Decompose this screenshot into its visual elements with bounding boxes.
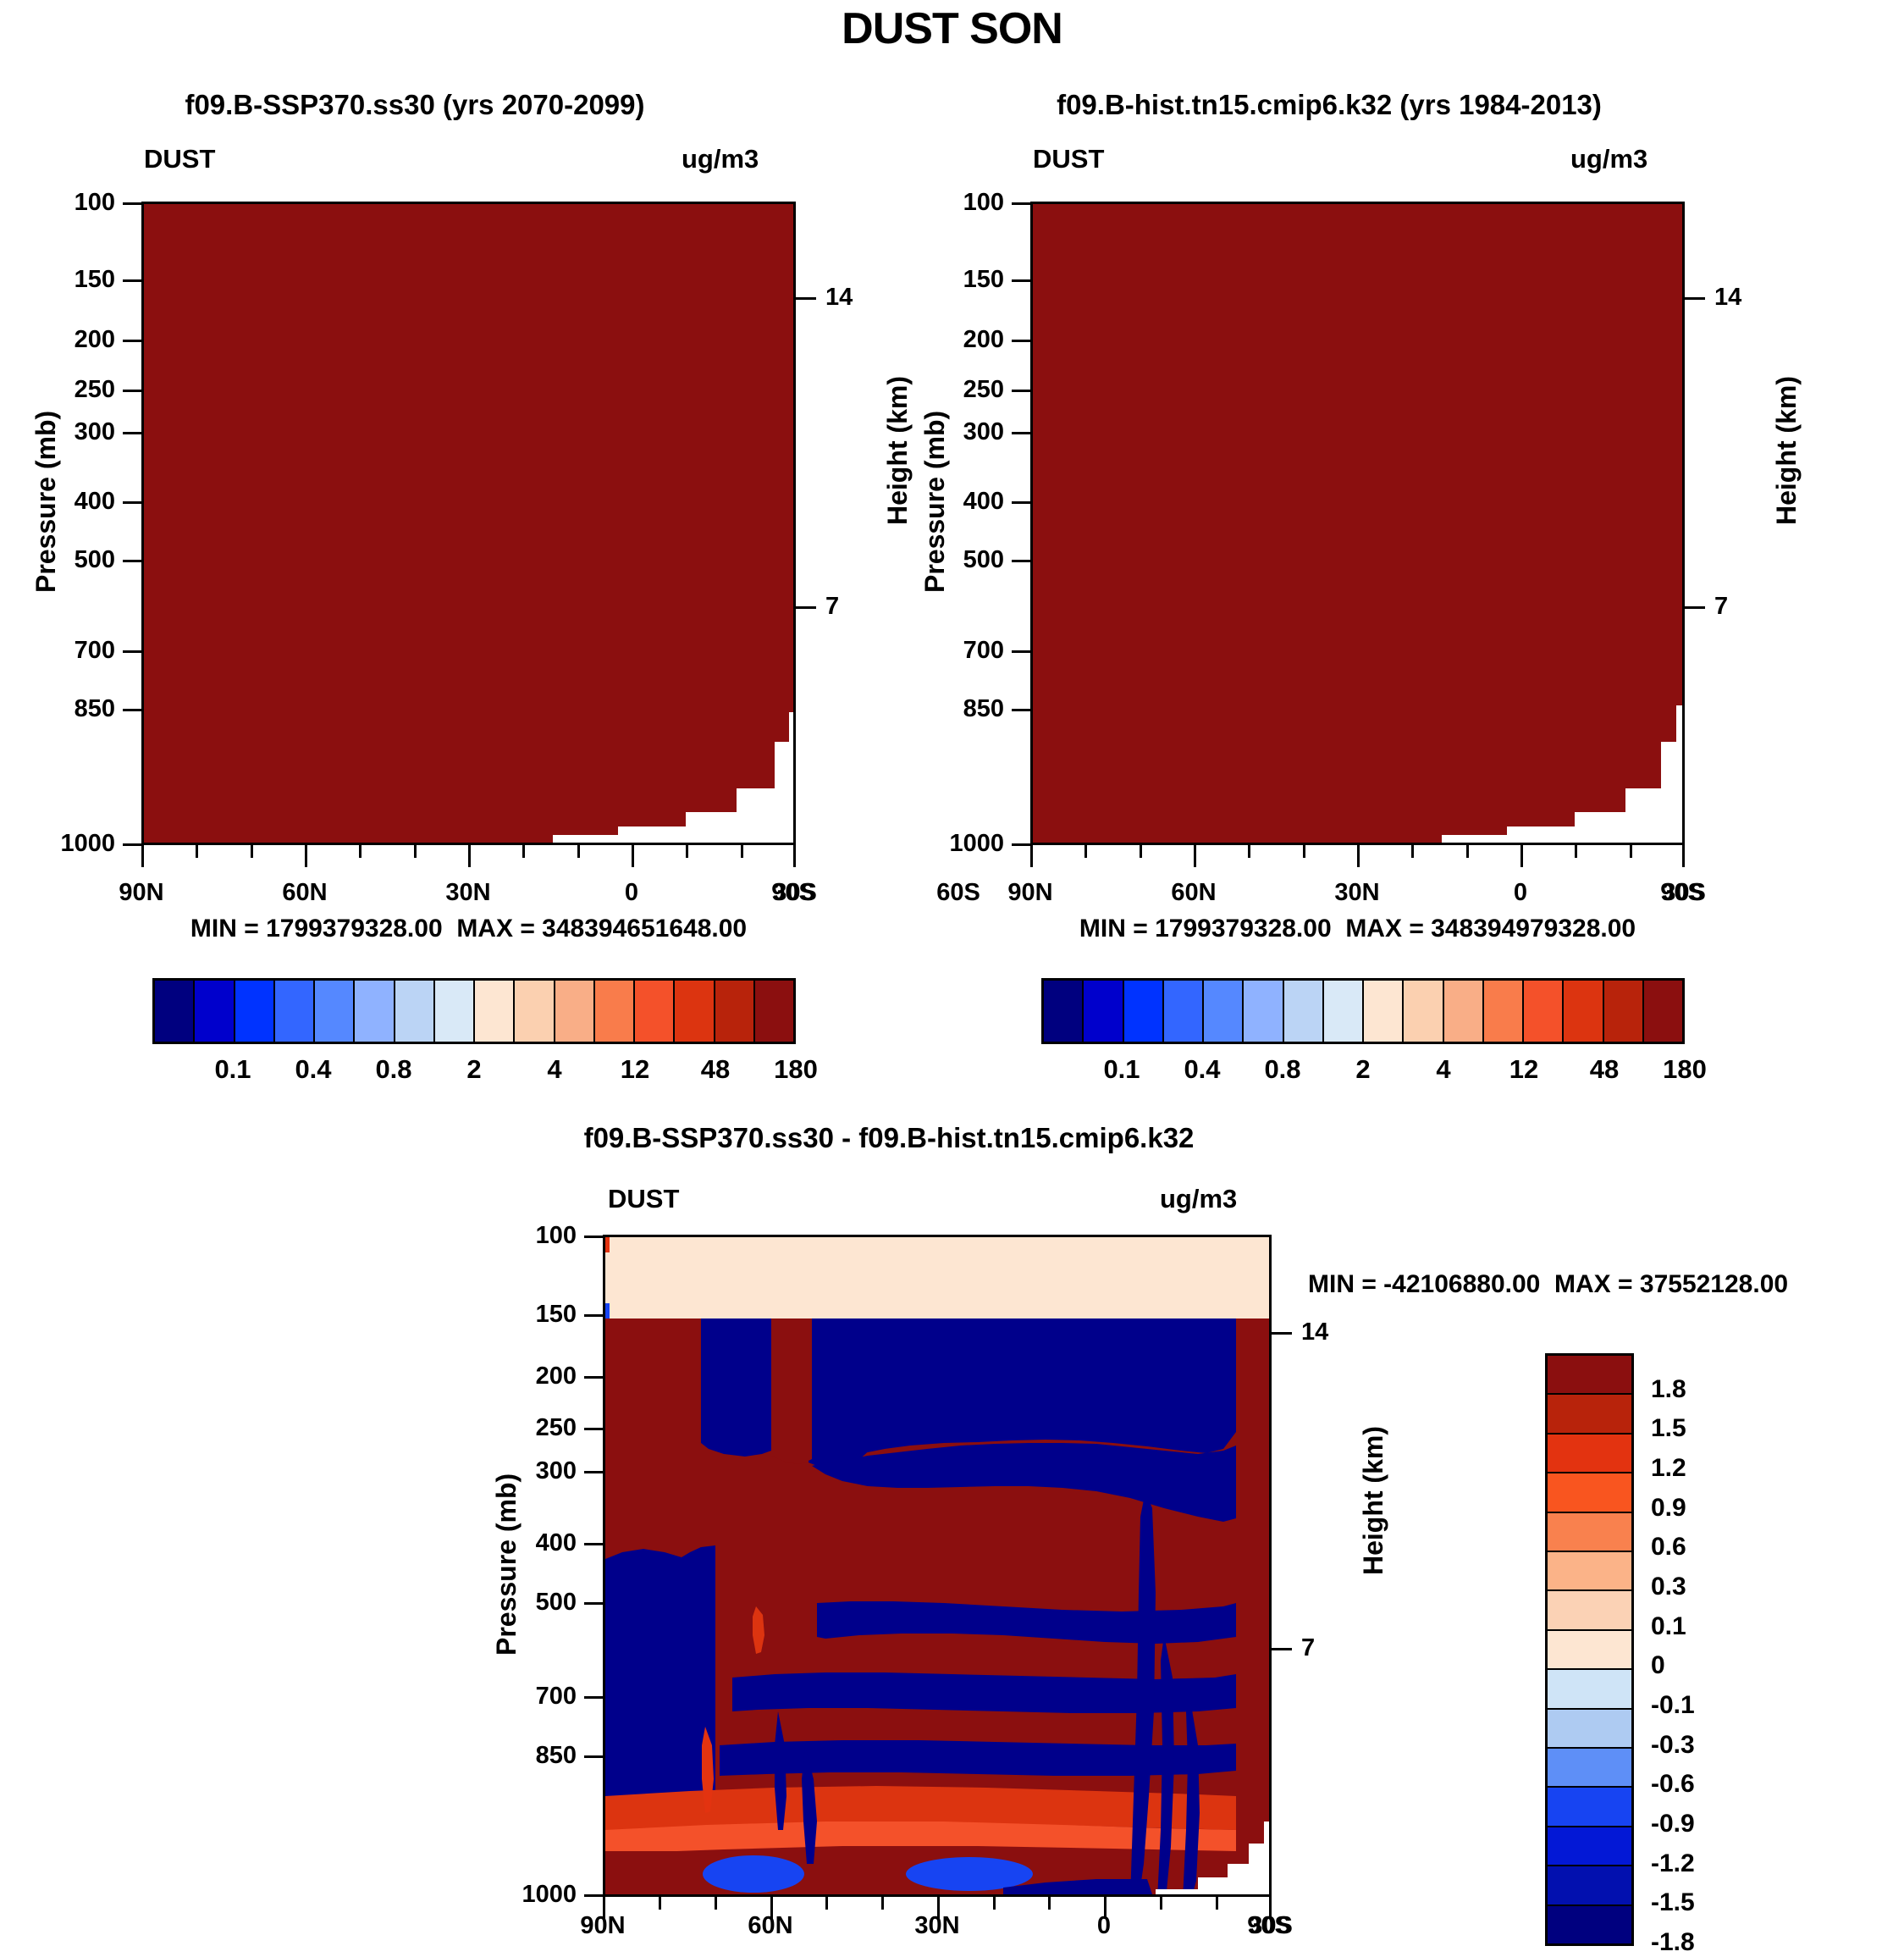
colorbar-cell	[715, 981, 755, 1042]
colorbar-difference-labels: 1.81.51.20.90.60.30.10-0.1-0.3-0.6-0.9-1…	[1651, 1353, 1778, 1946]
colorbar-cell	[635, 981, 675, 1042]
panel-title-bottom-diff: f09.B-SSP370.ss30 - f09.B-hist.tn15.cmip…	[423, 1122, 1355, 1154]
colorbar-cell	[755, 981, 793, 1042]
colorbar-cell	[1548, 1670, 1631, 1709]
colorbar-cell	[1244, 981, 1283, 1042]
colorbar-cell	[675, 981, 715, 1042]
pressure-tick-label: 500	[514, 1589, 577, 1617]
page-title: DUST SON	[0, 3, 1904, 54]
colorbar-cell	[1548, 1395, 1631, 1434]
colorbar-labels-top-right: 0.10.40.8241248180	[1041, 1054, 1685, 1092]
pressure-tick-label: 400	[514, 1529, 577, 1557]
pressure-tick-label: 150	[52, 266, 115, 294]
colorbar-tick-label: -0.1	[1651, 1691, 1695, 1720]
pressure-tick-label: 400	[52, 488, 115, 516]
pressure-tick-label: 1000	[923, 830, 1004, 858]
colorbar-cell	[1564, 981, 1603, 1042]
pressure-tick-label: 300	[514, 1457, 577, 1485]
colorbar-cell	[195, 981, 235, 1042]
colorbar-tick-label: -1.8	[1651, 1928, 1695, 1957]
colorbar-cell	[1548, 1513, 1631, 1552]
pressure-tick-label: 250	[514, 1414, 577, 1442]
unit-label-top-right: ug/m3	[1570, 144, 1647, 174]
pressure-tick-label: 500	[52, 546, 115, 574]
latitude-tick-label: 0	[1057, 1912, 1151, 1940]
colorbar-cell	[1548, 1788, 1631, 1827]
colorbar-cell	[475, 981, 515, 1042]
colorbar-cell	[1044, 981, 1084, 1042]
colorbar-cell	[1164, 981, 1204, 1042]
height-tick-label: 7	[1301, 1634, 1315, 1662]
max-value-top-right: MAX = 348394979328.00	[1345, 915, 1636, 943]
colorbar-cell	[1548, 1866, 1631, 1905]
pressure-tick-label: 100	[52, 189, 115, 217]
pressure-tick-label: 250	[52, 376, 115, 404]
pressure-tick-label: 700	[941, 637, 1004, 665]
latitude-tick-label: 90N	[984, 879, 1077, 907]
minmax-bottom-diff: MIN = -42106880.00 MAX = 37552128.00	[1308, 1270, 1788, 1299]
colorbar-top-right[interactable]	[1041, 978, 1685, 1044]
unit-label-top-left: ug/m3	[682, 144, 759, 174]
colorbar-tick-label: 0	[1651, 1651, 1665, 1680]
colorbar-tick-label: 0.3	[1651, 1573, 1686, 1601]
latitude-tick-label: 30N	[891, 1912, 984, 1940]
colorbar-cell	[555, 981, 595, 1042]
colorbar-cell	[1284, 981, 1324, 1042]
colorbar-tick-label: 0.9	[1651, 1494, 1686, 1523]
latitude-tick-label: 90N	[95, 879, 188, 907]
height-tick-label: 14	[1301, 1318, 1328, 1346]
latitude-tick-label-90s: 90S	[1636, 879, 1729, 907]
pressure-tick-label: 1000	[495, 1881, 577, 1909]
colorbar-cell	[1548, 1591, 1631, 1630]
difference-contour-field	[605, 1237, 1272, 1897]
colorbar-tick-label: 0.6	[1651, 1533, 1686, 1562]
min-value-top-right: MIN = 1799379328.00	[1079, 915, 1332, 943]
pressure-tick-label: 100	[514, 1222, 577, 1250]
variable-label-top-left: DUST	[144, 144, 215, 174]
colorbar-cell	[435, 981, 475, 1042]
y-axis-title-top-right: Pressure (mb)	[919, 411, 951, 593]
variable-label-bottom-diff: DUST	[608, 1184, 679, 1214]
min-value-top-left: MIN = 1799379328.00	[190, 915, 443, 943]
colorbar-cell	[1548, 1356, 1631, 1395]
pressure-tick-label: 850	[52, 695, 115, 723]
max-value-bottom-diff: MAX = 37552128.00	[1554, 1270, 1788, 1298]
latitude-tick-label: 30N	[1311, 879, 1404, 907]
colorbar-cell	[1364, 981, 1404, 1042]
pressure-tick-label: 700	[52, 637, 115, 665]
pressure-tick-label: 250	[941, 376, 1004, 404]
pressure-tick-label: 850	[941, 695, 1004, 723]
pressure-tick-label: 200	[941, 326, 1004, 354]
colorbar-cell	[1548, 1906, 1631, 1943]
colorbar-cell	[315, 981, 355, 1042]
colorbar-tick-label: 1.2	[1651, 1454, 1686, 1483]
latitude-tick-label-90s: 90S	[747, 879, 840, 907]
colorbar-cell	[1548, 1473, 1631, 1512]
plot-area-top-left	[141, 202, 796, 845]
colorbar-tick-label: 0.1	[1651, 1612, 1686, 1641]
latitude-tick-label-90s: 90S	[1222, 1912, 1316, 1940]
colorbar-cell	[1204, 981, 1244, 1042]
latitude-tick-label: 0	[1474, 879, 1567, 907]
pressure-tick-label: 200	[52, 326, 115, 354]
unit-label-bottom-diff: ug/m3	[1160, 1184, 1237, 1214]
colorbar-cell	[1484, 981, 1524, 1042]
height-tick-label: 14	[825, 284, 853, 312]
colorbar-tick-label: -1.2	[1651, 1849, 1695, 1878]
colorbar-tick-label: -0.6	[1651, 1770, 1695, 1799]
latitude-tick-label: 30N	[422, 879, 515, 907]
colorbar-cell	[1548, 1435, 1631, 1473]
y2-axis-title-bottom-diff: Height (km)	[1358, 1426, 1389, 1575]
panel-title-top-left: f09.B-SSP370.ss30 (yrs 2070-2099)	[34, 89, 796, 121]
colorbar-tick-label: 180	[1634, 1054, 1736, 1085]
colorbar-cell	[395, 981, 435, 1042]
colorbar-cell	[1548, 1552, 1631, 1591]
panel-title-top-right: f09.B-hist.tn15.cmip6.k32 (yrs 1984-2013…	[923, 89, 1736, 121]
colorbar-cell	[595, 981, 635, 1042]
colorbar-cell	[1548, 1749, 1631, 1788]
minmax-top-left: MIN = 1799379328.00 MAX = 348394651648.0…	[141, 915, 796, 943]
y2-axis-title-top-right: Height (km)	[1771, 376, 1802, 525]
surface-mask-top-left	[144, 204, 796, 845]
colorbar-cell	[1084, 981, 1123, 1042]
colorbar-cell	[235, 981, 275, 1042]
colorbar-cell	[1548, 1631, 1631, 1670]
colorbar-labels-top-left: 0.10.40.8241248180	[152, 1054, 796, 1092]
surface-mask-top-right	[1033, 204, 1685, 845]
colorbar-cell	[155, 981, 195, 1042]
latitude-tick-label: 60N	[724, 1912, 817, 1940]
pressure-tick-label: 300	[941, 418, 1004, 446]
colorbar-cell	[355, 981, 395, 1042]
y-axis-title-bottom-diff: Pressure (mb)	[491, 1473, 522, 1656]
latitude-tick-label: 60N	[258, 879, 351, 907]
colorbar-tick-label: -1.5	[1651, 1888, 1695, 1917]
colorbar-cell	[1124, 981, 1164, 1042]
colorbar-cell	[1524, 981, 1564, 1042]
colorbar-tick-label: 1.8	[1651, 1375, 1686, 1404]
pressure-tick-label: 150	[514, 1301, 577, 1329]
colorbar-tick-label: -0.9	[1651, 1810, 1695, 1838]
latitude-tick-label: 0	[585, 879, 678, 907]
height-tick-label: 7	[1714, 593, 1728, 621]
plot-area-bottom-diff	[603, 1235, 1272, 1897]
colorbar-cell	[1548, 1827, 1631, 1866]
colorbar-cell	[1324, 981, 1364, 1042]
colorbar-top-left[interactable]	[152, 978, 796, 1044]
min-value-bottom-diff: MIN = -42106880.00	[1308, 1270, 1540, 1298]
max-value-top-left: MAX = 348394651648.00	[456, 915, 747, 943]
plot-area-top-right	[1030, 202, 1685, 845]
pressure-tick-label: 100	[941, 189, 1004, 217]
pressure-tick-label: 1000	[34, 830, 115, 858]
y2-axis-title-top-left: Height (km)	[882, 376, 913, 525]
pressure-tick-label: 200	[514, 1363, 577, 1390]
colorbar-difference[interactable]	[1545, 1353, 1634, 1946]
colorbar-tick-label: -0.3	[1651, 1731, 1695, 1760]
colorbar-cell	[1604, 981, 1644, 1042]
colorbar-cell	[1548, 1710, 1631, 1749]
pressure-tick-label: 850	[514, 1742, 577, 1770]
latitude-tick-label: 90N	[556, 1912, 649, 1940]
colorbar-cell	[1444, 981, 1484, 1042]
variable-label-top-right: DUST	[1033, 144, 1104, 174]
pressure-tick-label: 300	[52, 418, 115, 446]
pressure-tick-label: 400	[941, 488, 1004, 516]
colorbar-cell	[1404, 981, 1443, 1042]
colorbar-cell	[1644, 981, 1682, 1042]
minmax-top-right: MIN = 1799379328.00 MAX = 348394979328.0…	[1030, 915, 1685, 943]
y-axis-title-top-left: Pressure (mb)	[30, 411, 62, 593]
colorbar-tick-label: 1.5	[1651, 1414, 1686, 1443]
pressure-tick-label: 150	[941, 266, 1004, 294]
latitude-tick-label: 60N	[1147, 879, 1240, 907]
pressure-tick-label: 700	[514, 1683, 577, 1711]
height-tick-label: 7	[825, 593, 839, 621]
colorbar-cell	[275, 981, 315, 1042]
colorbar-tick-label: 180	[745, 1054, 847, 1085]
colorbar-cell	[515, 981, 555, 1042]
pressure-tick-label: 500	[941, 546, 1004, 574]
height-tick-label: 14	[1714, 284, 1741, 312]
